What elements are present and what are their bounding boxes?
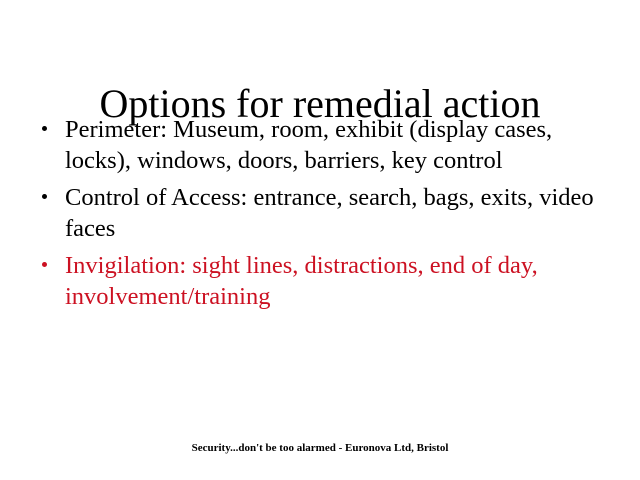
slide-footer: Security...don't be too alarmed - Eurono… (0, 441, 640, 455)
list-item-label: Perimeter: Museum, room, exhibit (displa… (65, 114, 594, 176)
list-item: Invigilation: sight lines, distractions,… (34, 250, 594, 312)
list-item-label: Control of Access: entrance, search, bag… (65, 182, 594, 244)
list-item: Control of Access: entrance, search, bag… (34, 182, 594, 244)
slide-canvas: Options for remedial action Perimeter: M… (0, 0, 640, 480)
bullet-dot-icon (42, 262, 47, 267)
list-item-label: Invigilation: sight lines, distractions,… (65, 250, 594, 312)
bullet-list: Perimeter: Museum, room, exhibit (displa… (34, 114, 594, 312)
bullet-dot-icon (42, 126, 47, 131)
bullet-dot-icon (42, 194, 47, 199)
list-item: Perimeter: Museum, room, exhibit (displa… (34, 114, 594, 176)
